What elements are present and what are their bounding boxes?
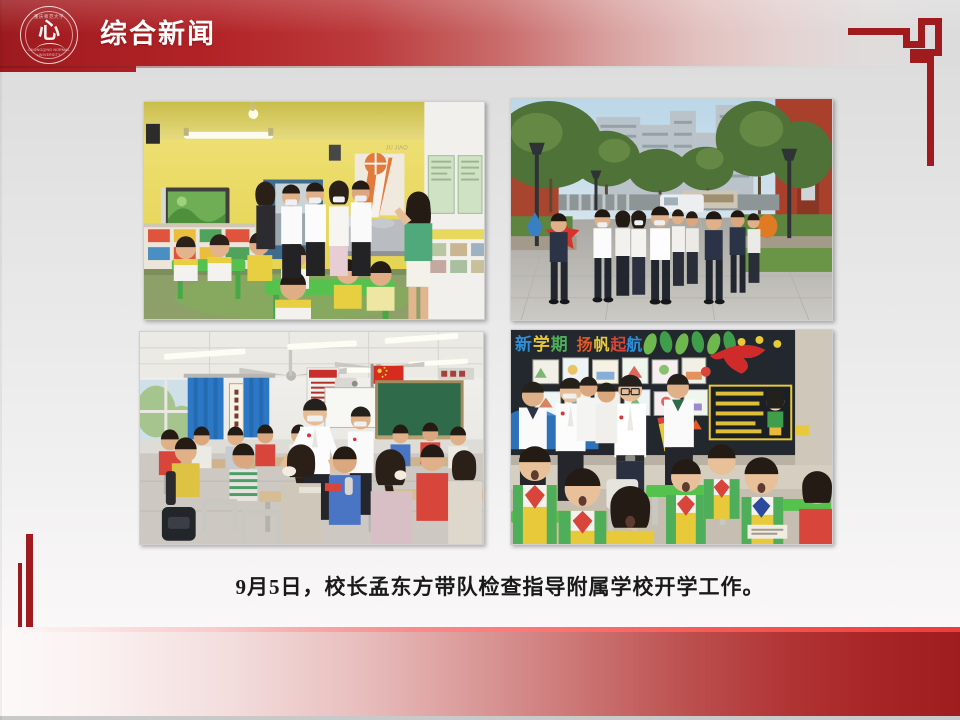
svg-text:航: 航 xyxy=(626,335,642,354)
page-title: 综合新闻 xyxy=(100,18,216,50)
footer-baseline xyxy=(0,716,960,720)
seal-ring-text-bottom: CHONGQING NORMAL UNIVERSITY xyxy=(21,48,77,58)
footer-highlight-stripe xyxy=(0,627,960,632)
photo-primary-school-classroom[interactable]: 新 学 期 扬 帆 起 航 xyxy=(510,329,833,545)
svg-text:扬: 扬 xyxy=(577,335,593,354)
svg-text:学: 学 xyxy=(533,334,550,354)
photo-campus-walkway[interactable] xyxy=(510,98,833,321)
photo-caption: 9月5日，校长孟东方带队检查指导附属学校开学工作。 xyxy=(120,572,880,602)
corner-ornament-tr-svg xyxy=(848,8,948,168)
svg-text:期: 期 xyxy=(551,335,568,354)
news-slide: 重庆师范大学 心 CHONGQING NORMAL UNIVERSITY 综合新… xyxy=(0,0,960,720)
footer-band xyxy=(0,627,960,717)
corner-ornament-top-right xyxy=(848,8,948,168)
svg-text:JU JIAO: JU JIAO xyxy=(386,146,409,152)
photo-middle-school-classroom[interactable] xyxy=(139,331,484,545)
seal-center-glyph: 心 xyxy=(21,20,77,42)
photo-middle-school-scene xyxy=(140,332,483,545)
page-edge-left xyxy=(0,0,2,720)
photo-campus-walkway-scene xyxy=(511,99,832,321)
university-seal-logo: 重庆师范大学 心 CHONGQING NORMAL UNIVERSITY xyxy=(20,6,78,64)
header-underline xyxy=(0,66,960,68)
photo-kindergarten-scene: JU JIAO xyxy=(144,102,484,320)
photo-primary-school-scene: 新 学 期 扬 帆 起 航 xyxy=(511,330,832,545)
photo-kindergarten-classroom[interactable]: JU JIAO xyxy=(143,101,485,320)
svg-text:起: 起 xyxy=(609,335,627,354)
svg-text:新: 新 xyxy=(515,334,532,354)
svg-text:帆: 帆 xyxy=(593,335,609,354)
